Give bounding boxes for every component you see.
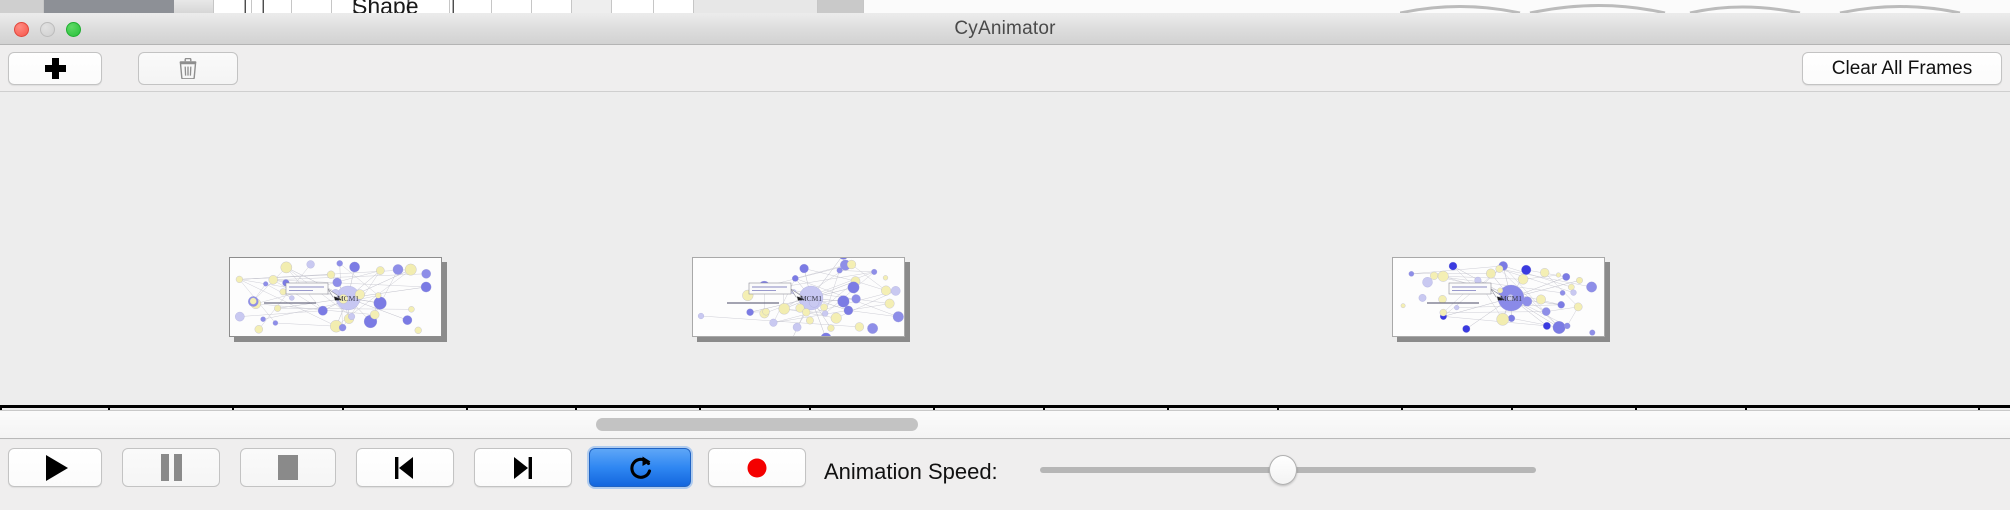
clear-all-frames-button[interactable]: Clear All Frames <box>1802 52 2002 85</box>
skip-forward-button[interactable] <box>474 448 572 487</box>
loop-button[interactable] <box>589 448 691 487</box>
skip-back-icon <box>393 454 417 482</box>
bg-segment <box>450 0 492 13</box>
network-graph: MCM1 <box>693 258 905 337</box>
timeline-scrollbar-thumb[interactable] <box>596 418 918 431</box>
svg-text:MCM1: MCM1 <box>337 294 359 303</box>
bg-segment <box>252 0 292 13</box>
add-frame-button[interactable] <box>8 52 102 85</box>
bg-segment <box>492 0 532 13</box>
stop-button <box>240 448 336 487</box>
frame-plate[interactable]: MCM1 <box>229 257 442 337</box>
skip-back-button[interactable] <box>356 448 454 487</box>
bg-partial-label: Shape <box>352 0 419 13</box>
loop-icon <box>628 454 652 482</box>
bg-curve <box>1400 0 2010 13</box>
timeline-axis-line <box>0 405 2010 408</box>
delete-frame-button[interactable] <box>138 52 238 85</box>
network-graph: MCM1 <box>230 258 442 337</box>
bg-segment-dark <box>44 0 174 13</box>
bg-segment <box>292 0 332 13</box>
svg-text:MCM1: MCM1 <box>1500 294 1522 303</box>
bg-segment <box>174 0 214 13</box>
pause-icon <box>160 454 183 481</box>
bg-segment <box>572 0 612 13</box>
bg-segment <box>532 0 572 13</box>
timeline-scrollbar[interactable] <box>0 411 2010 439</box>
network-graph: MCM1 <box>1393 258 1605 337</box>
plus-icon <box>45 58 66 79</box>
title-bar[interactable]: CyAnimator <box>0 13 2010 45</box>
frame-thumbnail[interactable]: MCM1 <box>1392 257 1610 342</box>
record-button[interactable] <box>708 448 806 487</box>
frame-toolbar: Clear All Frames <box>0 45 2010 92</box>
pause-button <box>122 448 220 487</box>
bg-segment <box>654 0 694 13</box>
frame-plate[interactable]: MCM1 <box>692 257 905 337</box>
bg-segment <box>612 0 654 13</box>
slider-thumb[interactable] <box>1269 455 1297 485</box>
timeline-panel[interactable]: MCM1 MCM1 MCM1 2131415161718 Seconds <box>0 92 2010 411</box>
svg-text:MCM1: MCM1 <box>800 294 822 303</box>
bg-segment <box>694 0 818 13</box>
frame-thumbnail[interactable]: MCM1 <box>692 257 910 342</box>
bg-segment <box>818 0 864 13</box>
playback-control-bar: Animation Speed: <box>0 440 2010 510</box>
animation-speed-slider[interactable] <box>1040 458 1536 482</box>
cyanimator-window: | | | | | Shape CyAnimator <box>0 0 2010 510</box>
animation-speed-label: Animation Speed: <box>824 459 998 485</box>
background-window-strip: | | | | | Shape <box>0 0 2010 13</box>
bg-segment <box>0 0 44 13</box>
record-icon <box>745 454 769 482</box>
play-icon <box>46 455 68 481</box>
skip-forward-icon <box>511 454 535 482</box>
frame-plate[interactable]: MCM1 <box>1392 257 1605 337</box>
frame-thumbnail[interactable]: MCM1 <box>229 257 447 342</box>
stop-icon <box>278 455 298 480</box>
clear-all-frames-label: Clear All Frames <box>1832 58 1972 80</box>
trash-icon <box>179 58 197 79</box>
window-title: CyAnimator <box>0 13 2010 45</box>
play-button[interactable] <box>8 448 102 487</box>
